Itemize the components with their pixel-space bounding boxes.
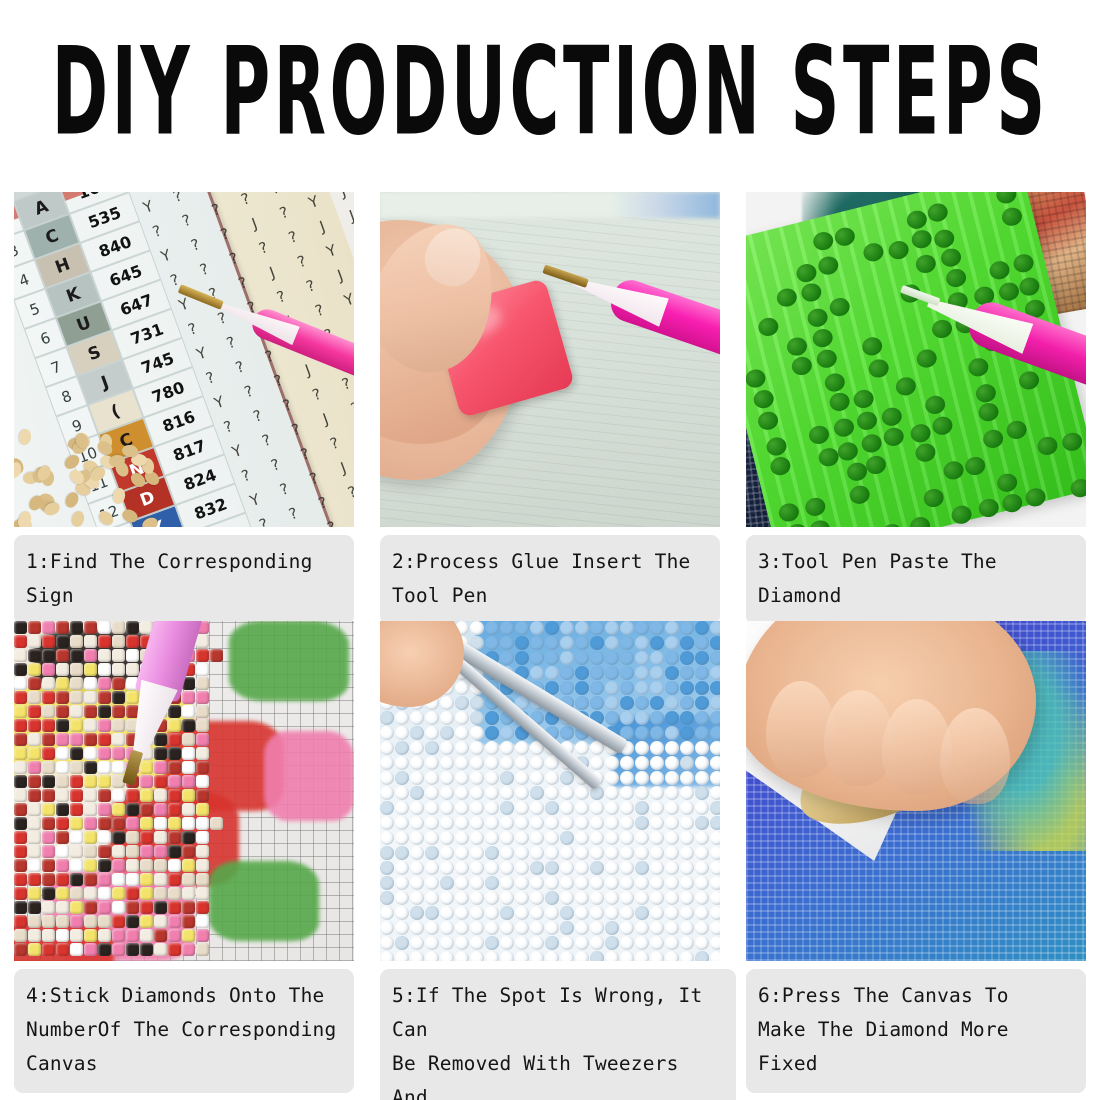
canvas-drill — [635, 891, 649, 905]
applied-drill — [126, 621, 139, 634]
canvas-drill — [470, 906, 484, 920]
step-caption-5: 5:If The Spot Is Wrong, It Can Be Remove… — [380, 969, 736, 1100]
applied-drill — [28, 915, 41, 928]
applied-drill — [182, 817, 195, 830]
canvas-drill — [620, 936, 634, 950]
applied-drill — [196, 663, 209, 676]
applied-drill — [154, 859, 167, 872]
canvas-drill — [680, 801, 694, 815]
drill — [950, 503, 974, 525]
applied-drill — [56, 845, 69, 858]
applied-drill — [98, 635, 111, 648]
applied-drill — [168, 789, 181, 802]
canvas-drill — [575, 846, 589, 860]
applied-drill — [98, 817, 111, 830]
canvas-drill — [695, 831, 709, 845]
applied-drill — [98, 831, 111, 844]
applied-drill — [28, 719, 41, 732]
canvas-drill — [380, 816, 394, 830]
canvas-drill — [545, 936, 559, 950]
applied-drill — [98, 943, 111, 956]
canvas-drill — [605, 876, 619, 890]
applied-drill — [42, 929, 55, 942]
canvas-drill — [410, 846, 424, 860]
applied-drill — [14, 621, 27, 634]
canvas-drill — [695, 681, 709, 695]
applied-drill — [154, 915, 167, 928]
applied-drill — [14, 747, 27, 760]
applied-drill — [154, 943, 167, 956]
canvas-drill — [380, 711, 394, 725]
applied-drill — [42, 691, 55, 704]
canvas-drill — [710, 951, 720, 961]
applied-drill — [14, 663, 27, 676]
canvas-drill — [455, 831, 469, 845]
canvas-drill — [395, 771, 409, 785]
applied-drill — [14, 719, 27, 732]
step-caption-1: 1:Find The Corresponding Sign — [14, 535, 354, 625]
canvas-drill — [680, 756, 694, 770]
drill — [864, 454, 888, 476]
canvas-drill — [380, 786, 394, 800]
canvas-drill — [410, 891, 424, 905]
applied-drill — [56, 705, 69, 718]
canvas-drill — [395, 861, 409, 875]
canvas-drill — [380, 876, 394, 890]
canvas-drill — [635, 876, 649, 890]
applied-drill — [112, 887, 125, 900]
applied-drill — [112, 943, 125, 956]
canvas-drill — [605, 861, 619, 875]
canvas-drill — [380, 891, 394, 905]
applied-drill — [84, 915, 97, 928]
canvas-drill — [515, 861, 529, 875]
applied-drill — [210, 649, 223, 662]
drill — [974, 382, 998, 404]
page-title-bar: DIY PRODUCTION STEPS — [0, 38, 1100, 148]
applied-drill — [14, 775, 27, 788]
applied-drill — [140, 929, 153, 942]
canvas-drill — [710, 681, 720, 695]
applied-drill — [196, 901, 209, 914]
canvas-drill — [530, 906, 544, 920]
applied-drill — [168, 887, 181, 900]
applied-drill — [98, 887, 111, 900]
diy-production-steps-page: DIY PRODUCTION STEPS 1Z1522A1603C5354H84… — [0, 0, 1100, 1100]
canvas-drill — [680, 846, 694, 860]
canvas-drill — [680, 636, 694, 650]
applied-drill — [56, 691, 69, 704]
canvas-drill — [635, 906, 649, 920]
drill — [790, 355, 814, 377]
drill — [880, 522, 904, 527]
applied-drill — [70, 831, 83, 844]
applied-drill — [42, 943, 55, 956]
drill — [963, 455, 987, 477]
applied-drill — [42, 649, 55, 662]
applied-drill — [42, 733, 55, 746]
applied-drill — [70, 901, 83, 914]
canvas-drill — [545, 906, 559, 920]
canvas-drill — [575, 891, 589, 905]
canvas-drill — [590, 861, 604, 875]
applied-drill — [14, 831, 27, 844]
canvas-drill — [380, 951, 394, 961]
applied-drill — [42, 887, 55, 900]
applied-drill — [154, 929, 167, 942]
drill — [922, 487, 946, 509]
step-cell-6: 6:Press The Canvas To Make The Diamond M… — [746, 621, 1086, 1100]
applied-drill — [98, 691, 111, 704]
applied-drill — [70, 649, 83, 662]
loose-drill — [19, 428, 33, 445]
applied-drill — [84, 621, 97, 634]
drill — [867, 357, 891, 379]
canvas-drill — [680, 921, 694, 935]
drill — [887, 239, 911, 261]
applied-drill — [56, 677, 69, 690]
canvas-drill — [695, 951, 709, 961]
canvas-drill — [680, 681, 694, 695]
drill — [832, 417, 856, 439]
applied-drill — [168, 859, 181, 872]
applied-drill — [28, 691, 41, 704]
applied-drill — [14, 761, 27, 774]
page-title: DIY PRODUCTION STEPS — [51, 33, 1048, 154]
drill — [810, 327, 834, 349]
canvas-drill — [575, 951, 589, 961]
drill — [914, 252, 938, 274]
canvas-drill — [545, 951, 559, 961]
canvas-drill — [410, 831, 424, 845]
drill — [785, 335, 809, 357]
applied-drill — [84, 719, 97, 732]
canvas-drill — [650, 846, 664, 860]
canvas-drill — [710, 741, 720, 755]
canvas-drill — [710, 621, 720, 635]
applied-drill — [14, 705, 27, 718]
canvas-drill — [680, 891, 694, 905]
finger — [940, 708, 1010, 804]
applied-drill — [70, 943, 83, 956]
canvas-drill — [410, 906, 424, 920]
canvas-drill — [695, 891, 709, 905]
canvas-drill — [695, 921, 709, 935]
drill — [940, 247, 964, 269]
applied-drill — [14, 859, 27, 872]
canvas-drill — [395, 741, 409, 755]
canvas-drill — [680, 696, 694, 710]
applied-drill — [112, 635, 125, 648]
canvas-drill — [650, 891, 664, 905]
drill — [777, 502, 801, 524]
applied-drill — [196, 705, 209, 718]
drill — [910, 228, 934, 250]
canvas-drill — [575, 861, 589, 875]
applied-drill — [42, 635, 55, 648]
canvas-drill — [680, 621, 694, 635]
step-caption-3: 3:Tool Pen Paste The Diamond — [746, 535, 1086, 625]
drill — [981, 428, 1005, 450]
canvas-drill — [695, 801, 709, 815]
canvas-drill — [665, 846, 679, 860]
applied-drill — [98, 705, 111, 718]
applied-drill — [42, 901, 55, 914]
drill — [914, 441, 938, 463]
canvas-drill — [575, 936, 589, 950]
drill — [862, 242, 886, 264]
applied-drill — [42, 803, 55, 816]
canvas-drill — [680, 726, 694, 740]
canvas-drill — [500, 861, 514, 875]
applied-drill — [112, 831, 125, 844]
canvas-drill — [710, 726, 720, 740]
canvas-drill — [515, 831, 529, 845]
drill — [1004, 419, 1028, 441]
canvas-drill — [530, 876, 544, 890]
canvas-drill — [395, 876, 409, 890]
applied-drill — [196, 873, 209, 886]
drill — [880, 406, 904, 428]
applied-drill — [182, 719, 195, 732]
drill — [997, 280, 1021, 302]
applied-drill — [56, 915, 69, 928]
applied-drill — [168, 761, 181, 774]
canvas-drill — [695, 936, 709, 950]
applied-drill — [196, 831, 209, 844]
applied-drill — [28, 845, 41, 858]
applied-drill — [168, 831, 181, 844]
applied-drill — [14, 789, 27, 802]
applied-drill — [84, 817, 97, 830]
canvas-drill — [500, 921, 514, 935]
applied-drill — [14, 677, 27, 690]
applied-drill — [70, 775, 83, 788]
canvas-drill — [395, 921, 409, 935]
canvas-drill — [380, 831, 394, 845]
canvas-drill — [605, 951, 619, 961]
applied-drill — [70, 663, 83, 676]
canvas-drill — [395, 831, 409, 845]
applied-drill — [154, 873, 167, 886]
drill — [805, 306, 829, 328]
canvas-drill — [395, 936, 409, 950]
drill — [764, 435, 788, 457]
canvas-drill — [605, 831, 619, 845]
canvas-drill — [650, 831, 664, 845]
canvas-drill — [380, 771, 394, 785]
applied-drill — [14, 915, 27, 928]
applied-drill — [98, 873, 111, 886]
applied-drill — [196, 929, 209, 942]
applied-drill — [154, 803, 167, 816]
drill — [882, 426, 906, 448]
loose-drill — [140, 515, 160, 527]
canvas-drill — [515, 876, 529, 890]
applied-drill — [56, 803, 69, 816]
applied-drill — [84, 705, 97, 718]
canvas-drill — [560, 861, 574, 875]
canvas-drill — [710, 921, 720, 935]
drill — [908, 515, 932, 527]
canvas-drill — [695, 651, 709, 665]
step-caption-2: 2:Process Glue Insert The Tool Pen — [380, 535, 720, 625]
drill — [827, 296, 851, 318]
applied-drill — [42, 677, 55, 690]
canvas-drill — [590, 891, 604, 905]
canvas-drill — [680, 861, 694, 875]
applied-drill — [28, 635, 41, 648]
canvas-drill — [470, 876, 484, 890]
drill — [785, 522, 809, 527]
drill — [861, 336, 885, 358]
applied-drill — [70, 677, 83, 690]
canvas-drill — [695, 786, 709, 800]
canvas-drill — [665, 936, 679, 950]
drill — [1069, 477, 1086, 499]
step-cell-4: 4:Stick Diamonds Onto The NumberOf The C… — [14, 621, 354, 1100]
applied-drill — [182, 859, 195, 872]
canvas-drill — [680, 651, 694, 665]
canvas-drill — [710, 906, 720, 920]
applied-drill — [70, 733, 83, 746]
canvas-drill — [500, 831, 514, 845]
drill — [908, 422, 932, 444]
drill — [1017, 369, 1041, 391]
canvas-drill — [455, 951, 469, 961]
canvas-drill — [455, 861, 469, 875]
drill — [1011, 252, 1035, 274]
canvas-drill — [710, 801, 720, 815]
applied-drill — [126, 817, 139, 830]
canvas-drill — [620, 861, 634, 875]
drill — [1000, 206, 1024, 228]
canvas-drill — [560, 891, 574, 905]
canvas-drill — [665, 861, 679, 875]
drill — [794, 262, 818, 284]
drill — [994, 192, 1018, 206]
applied-drill — [56, 859, 69, 872]
canvas-drill — [710, 846, 720, 860]
drill — [746, 368, 767, 390]
applied-drill — [42, 817, 55, 830]
applied-drill — [42, 747, 55, 760]
canvas-drill — [620, 891, 634, 905]
drill — [977, 497, 1001, 519]
canvas-drill — [380, 741, 394, 755]
canvas-drill — [575, 906, 589, 920]
drill — [926, 202, 950, 224]
applied-drill — [14, 901, 27, 914]
applied-drill — [126, 915, 139, 928]
canvas-drill — [395, 816, 409, 830]
steps-grid: 1Z1522A1603C5354H8405K6456U6477S7318J745… — [14, 192, 1086, 625]
applied-drill — [182, 873, 195, 886]
applied-drill — [28, 747, 41, 760]
applied-drill — [84, 733, 97, 746]
applied-drill — [28, 929, 41, 942]
applied-drill — [14, 929, 27, 942]
drill — [757, 316, 781, 338]
applied-drill — [28, 663, 41, 676]
canvas-drill — [485, 951, 499, 961]
loose-drill — [120, 507, 140, 525]
canvas-drill — [410, 936, 424, 950]
canvas-drill — [440, 831, 454, 845]
canvas-drill — [500, 936, 514, 950]
canvas-drill — [455, 876, 469, 890]
applied-drill — [42, 873, 55, 886]
photo-process-glue-insert-tool-pen — [380, 192, 720, 527]
applied-drill — [154, 817, 167, 830]
step-caption-6: 6:Press The Canvas To Make The Diamond M… — [746, 969, 1086, 1093]
canvas-drill — [515, 936, 529, 950]
applied-drill — [84, 873, 97, 886]
drill — [915, 347, 939, 369]
applied-drill — [42, 705, 55, 718]
applied-drill — [14, 943, 27, 956]
canvas-drill — [425, 951, 439, 961]
applied-drill — [14, 817, 27, 830]
canvas-drill — [590, 906, 604, 920]
canvas-drill — [665, 876, 679, 890]
applied-drill — [168, 845, 181, 858]
applied-drill — [154, 831, 167, 844]
canvas-drill — [545, 846, 559, 860]
canvas-drill — [425, 831, 439, 845]
canvas-drill — [695, 861, 709, 875]
applied-drill — [112, 873, 125, 886]
canvas-drill — [710, 831, 720, 845]
applied-drill — [168, 873, 181, 886]
step-caption-4: 4:Stick Diamonds Onto The NumberOf The C… — [14, 969, 354, 1093]
canvas-drill — [605, 906, 619, 920]
drill — [905, 209, 929, 231]
canvas-drill — [695, 816, 709, 830]
applied-drill — [112, 901, 125, 914]
applied-drill — [70, 635, 83, 648]
drill — [1001, 492, 1025, 514]
applied-drill — [70, 915, 83, 928]
applied-drill — [196, 859, 209, 872]
canvas-drill — [635, 846, 649, 860]
drill — [815, 348, 839, 370]
applied-drill — [126, 845, 139, 858]
applied-drill — [112, 859, 125, 872]
applied-drill — [98, 859, 111, 872]
canvas-drill — [425, 921, 439, 935]
applied-drill — [14, 635, 27, 648]
drill — [976, 402, 1000, 424]
canvas-drill — [680, 936, 694, 950]
canvas-drill — [380, 861, 394, 875]
canvas-drill — [710, 711, 720, 725]
applied-drill — [56, 719, 69, 732]
applied-drill — [126, 929, 139, 942]
applied-drill — [70, 719, 83, 732]
canvas-drill — [395, 756, 409, 770]
applied-drill — [112, 817, 125, 830]
applied-drill — [28, 901, 41, 914]
canvas-drill — [560, 921, 574, 935]
applied-drill — [182, 915, 195, 928]
canvas-drill — [695, 906, 709, 920]
canvas-drill — [695, 711, 709, 725]
canvas-drill — [695, 741, 709, 755]
canvas-drill — [455, 846, 469, 860]
background-strip — [380, 192, 720, 218]
canvas-drill — [665, 921, 679, 935]
